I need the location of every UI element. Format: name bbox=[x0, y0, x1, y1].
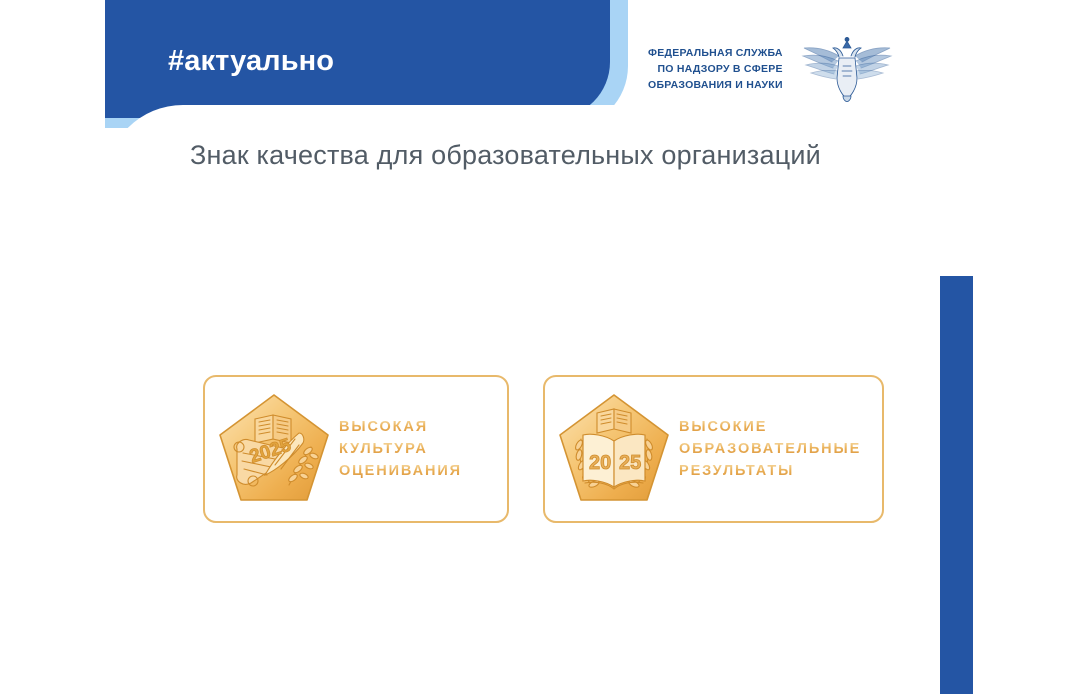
slide-canvas: #актуально ФЕДЕРАЛЬНАЯ СЛУЖБА ПО НАДЗОРУ… bbox=[0, 0, 1072, 694]
hashtag-label: #актуально bbox=[168, 45, 334, 78]
badge-line: КУЛЬТУРА bbox=[339, 441, 462, 458]
rosobrnadzor-brand: ФЕДЕРАЛЬНАЯ СЛУЖБА ПО НАДЗОРУ В СФЕРЕ ОБ… bbox=[648, 36, 895, 102]
double-headed-eagle-emblem-icon bbox=[799, 36, 895, 102]
right-accent-bar bbox=[940, 276, 973, 694]
badge-line: ОБРАЗОВАТЕЛЬНЫЕ bbox=[679, 441, 861, 458]
badge-card[interactable]: 20 25 ВЫСОКИЕ ОБРАЗОВАТЕЛЬНЫЕ РЕЗУЛЬТАТЫ bbox=[543, 375, 884, 523]
brand-line-2: ПО НАДЗОРУ В СФЕРЕ bbox=[648, 61, 783, 77]
badge-line: ОЦЕНИВАНИЯ bbox=[339, 463, 462, 480]
brand-line-1: ФЕДЕРАЛЬНАЯ СЛУЖБА bbox=[648, 45, 783, 61]
medal-year-right-text: 25 bbox=[619, 452, 641, 474]
badge-line: ВЫСОКАЯ bbox=[339, 419, 462, 436]
page-title: Знак качества для образовательных органи… bbox=[190, 139, 830, 172]
badge-line: РЕЗУЛЬТАТЫ bbox=[679, 463, 861, 480]
pentagon-medal-open-book-icon: 20 25 bbox=[555, 391, 673, 507]
brand-text-block: ФЕДЕРАЛЬНАЯ СЛУЖБА ПО НАДЗОРУ В СФЕРЕ ОБ… bbox=[648, 45, 783, 93]
brand-line-3: ОБРАЗОВАНИЯ И НАУКИ bbox=[648, 77, 783, 93]
badge-text-block: ВЫСОКИЕ ОБРАЗОВАТЕЛЬНЫЕ РЕЗУЛЬТАТЫ bbox=[679, 419, 861, 480]
pentagon-medal-scroll-quill-icon: 2025 bbox=[215, 391, 333, 507]
medal-year-left-text: 20 bbox=[589, 452, 611, 474]
badge-text-block: ВЫСОКАЯ КУЛЬТУРА ОЦЕНИВАНИЯ bbox=[339, 419, 462, 480]
badge-card[interactable]: 2025 ВЫСОКАЯ КУЛЬТУРА ОЦЕНИВАНИЯ bbox=[203, 375, 509, 523]
badge-line: ВЫСОКИЕ bbox=[679, 419, 861, 436]
